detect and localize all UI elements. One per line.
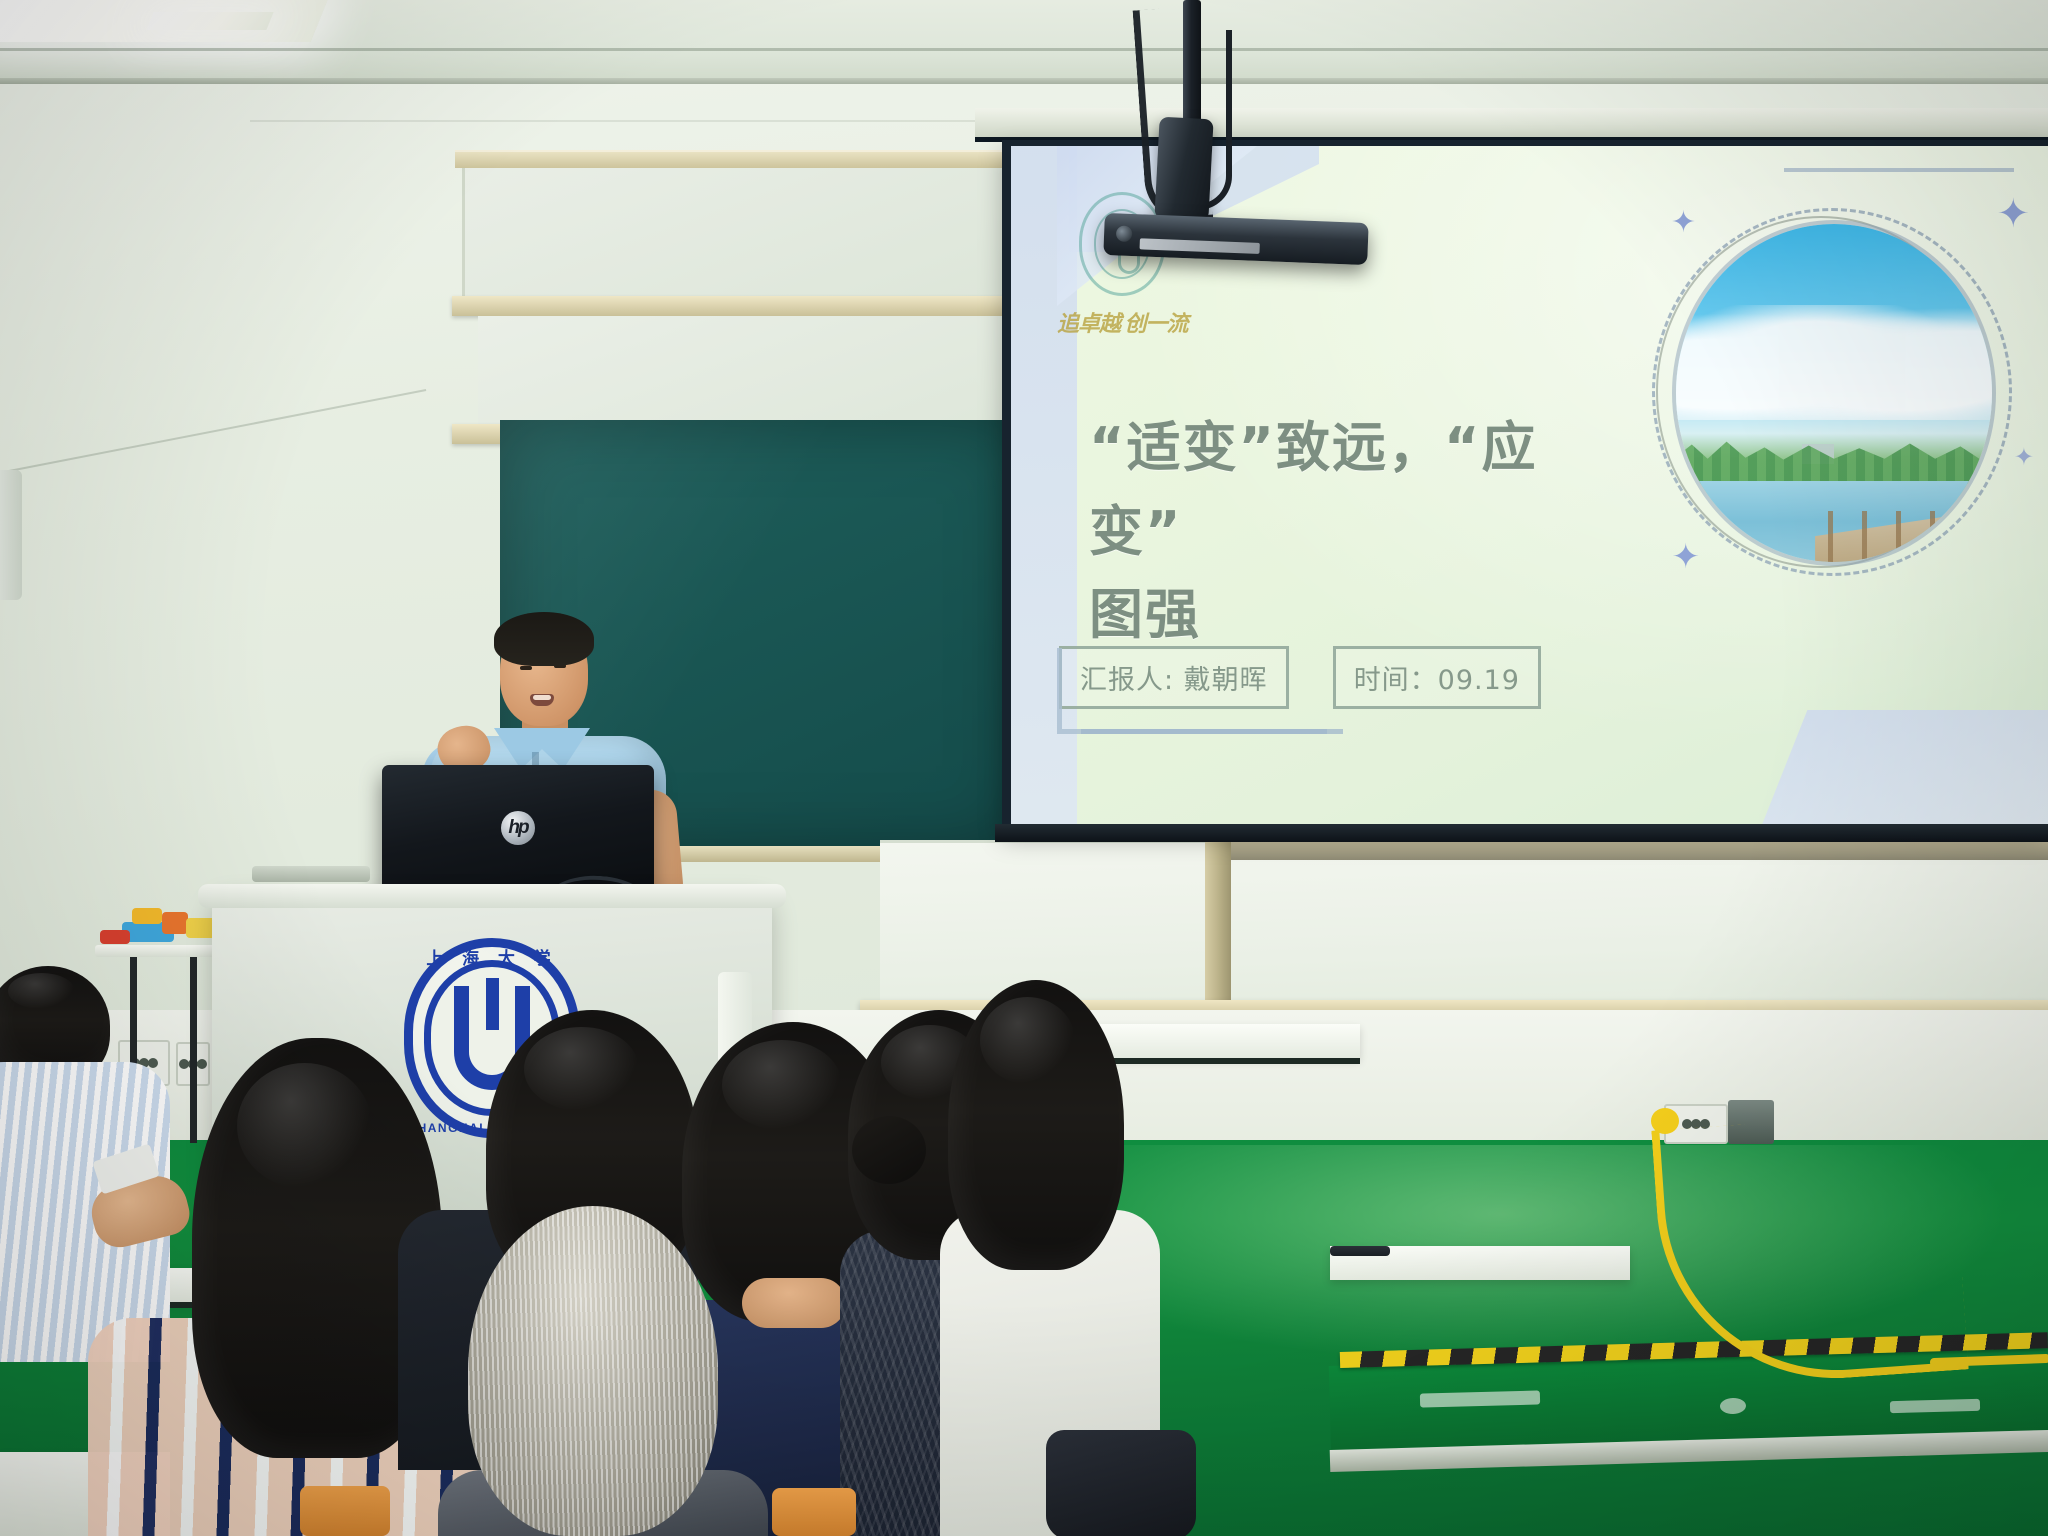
slide-title: “适变”致远，“应变” 图强 [1089, 406, 1629, 657]
audience-neck [742, 1278, 846, 1328]
audience-hair-bun [852, 1116, 926, 1184]
camera-lens-icon [1116, 225, 1133, 242]
ceiling [0, 0, 2048, 86]
ceiling-light-panel-secondary [146, 12, 273, 30]
slide-bottom-accent-line [1081, 729, 1343, 734]
board-rail-upper [452, 296, 1018, 316]
logo-chinese-name: 上 海 大 学 [404, 944, 580, 969]
tabletop-object [100, 930, 130, 944]
hair-highlight [980, 997, 1075, 1084]
slide-title-line-1: “适变”致远，“应变” [1089, 406, 1629, 573]
presenter-mouth [530, 694, 554, 706]
whiteboard-mid-panel [478, 316, 1020, 426]
board-top-frame [455, 150, 1015, 168]
backpack [1046, 1430, 1196, 1536]
photo-boardwalk-posts [1828, 511, 1973, 562]
photo-clouds [1676, 305, 1992, 420]
whiteboard-upper-panel [462, 168, 1010, 296]
slide-title-line-2: 图强 [1089, 573, 1629, 657]
classroom-scene: 追卓越 创一流 “适变”致远，“应变” 图强 汇报人: 戴朝晖 时间：09.19 [0, 0, 2048, 1536]
floor-scuff [1890, 1399, 1980, 1413]
hair-highlight [722, 1040, 842, 1130]
slide-motto: 追卓越 创一流 [1057, 306, 1217, 332]
hair-highlight [237, 1063, 372, 1189]
photo-treeline [1676, 437, 1992, 484]
ceiling-seam [0, 48, 2048, 51]
projection-screen-bottom-bar [995, 824, 2048, 842]
ceiling-mount-head [1154, 117, 1213, 222]
slide-corner-bracket [1057, 648, 1327, 734]
date-box: 时间：09.19 [1333, 646, 1541, 709]
desk-item [1330, 1246, 1390, 1256]
wall-conduit [0, 470, 22, 600]
projection-screen-case [975, 108, 2048, 142]
tabletop-object [132, 908, 162, 924]
chair [772, 1488, 856, 1536]
lectern-top-surface [198, 884, 786, 908]
presenter-hair [494, 612, 594, 666]
whiteboard-divider-post [1205, 838, 1231, 1008]
hp-logo-icon: hp [501, 811, 535, 845]
sparkle-icon: ✦ [1672, 540, 1701, 574]
tabletop-object [162, 912, 188, 934]
chair [300, 1486, 390, 1536]
slide-bottom-right-wedge [1748, 710, 2048, 830]
sparkle-icon: ✦ [1671, 208, 1696, 238]
campus-lake-photo [1676, 224, 1992, 562]
lectern-ledge [252, 866, 370, 882]
logo-u-tip [486, 978, 499, 1030]
hair-highlight [524, 1027, 638, 1111]
audience-hair [468, 1206, 718, 1536]
slide-top-accent-line [1784, 168, 2014, 172]
sparkle-icon: ✦ [1996, 194, 2030, 234]
presenter-eye [520, 666, 532, 670]
device-label-strip [1140, 238, 1260, 254]
audience-hair [948, 980, 1124, 1270]
side-table-leg [190, 957, 197, 1143]
hair-highlight [8, 973, 75, 1009]
sparkle-icon: ✦ [2014, 446, 2034, 470]
